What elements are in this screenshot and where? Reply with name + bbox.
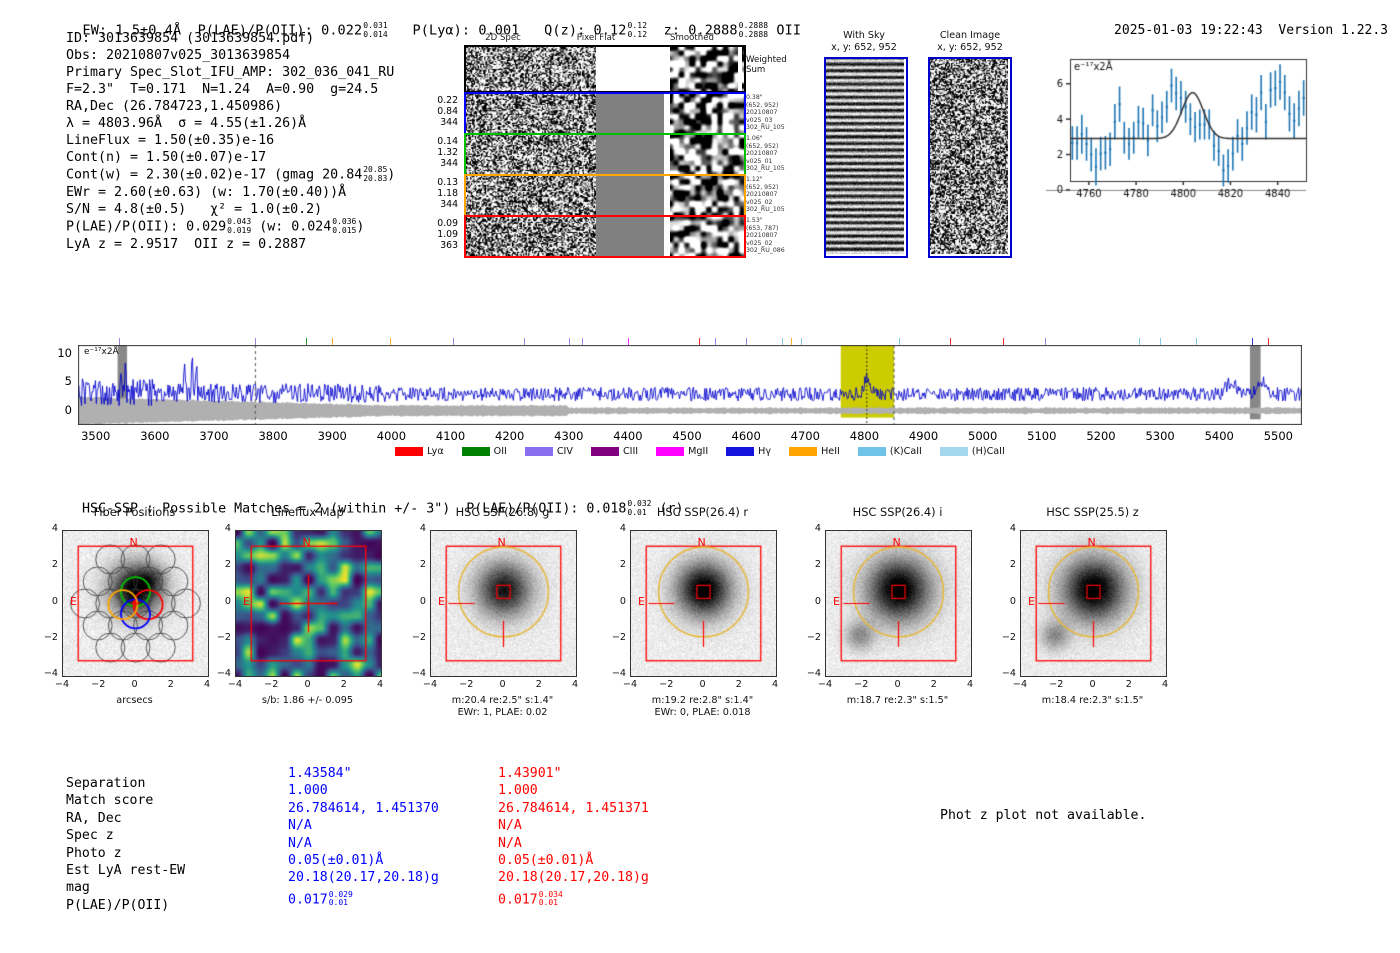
legend-label: (K)CaII: [890, 446, 922, 457]
cutout-x-tick: −2: [654, 679, 678, 690]
cutout-x-tick: 2: [727, 679, 751, 690]
cutout-image[interactable]: [825, 530, 972, 677]
spectrum-x-tick: 4000: [365, 429, 417, 443]
spectrum-y-tick: 0: [48, 403, 72, 417]
match-row-label: Spec z: [66, 827, 114, 844]
match-col2-value: 1.000: [498, 782, 538, 799]
match-col2-value: 0.0170.0340.01: [498, 891, 563, 909]
cutout-caption-line1: m:20.4 re:2.5" s:1.4": [452, 695, 553, 706]
spectrum-x-tick: 5000: [957, 429, 1009, 443]
cutout-x-tick: −4: [1008, 679, 1032, 690]
cutout-x-tick: 2: [1117, 679, 1141, 690]
cutout-caption-line2: EWr: 1, PLAE: 0.02: [458, 707, 548, 718]
cutout-caption: s/b: 1.86 +/- 0.095: [207, 695, 408, 707]
match-col1-value: 1.000: [288, 782, 328, 799]
spectrum-x-tick: 3600: [129, 429, 181, 443]
legend-label: CIII: [623, 446, 638, 457]
cutout-title: Fiber Positions: [52, 505, 217, 519]
cutout-y-tick: 2: [408, 559, 426, 570]
cutout-y-tick: −2: [998, 632, 1016, 643]
match-col1-value: 0.0170.0290.01: [288, 891, 353, 909]
cutout-x-tick: 4: [958, 679, 982, 690]
cutout-y-tick: 4: [803, 523, 821, 534]
match-row-label: Photo z: [66, 845, 122, 862]
cutout-panel-row: Fiber PositionsNE420−2−4−4−2024arcsecsLi…: [0, 505, 1400, 735]
match-col1-value: 0.05(±0.01)Å: [288, 852, 383, 869]
cutout-y-tick: 4: [40, 523, 58, 534]
spectrum-x-tick: 5100: [1016, 429, 1068, 443]
match-col2-value: 26.784614, 1.451371: [498, 800, 649, 817]
match-col1-value: N/A: [288, 817, 312, 834]
legend-item: CIII: [591, 446, 638, 458]
spectrum-x-tick: 4400: [602, 429, 654, 443]
match-col1-value: N/A: [288, 835, 312, 852]
match-col2-value: N/A: [498, 817, 522, 834]
spectrum-legend: LyαOIICIVCIIIMgIIHγHeII(K)CaII(H)CaII: [0, 446, 1400, 458]
compass-east: E: [638, 595, 645, 608]
cutout-x-tick: 0: [491, 679, 515, 690]
cutout-y-tick: −2: [213, 632, 231, 643]
spectrum-x-tick: 4500: [661, 429, 713, 443]
cutout-y-tick: 2: [40, 559, 58, 570]
spectrum-x-tick: 3500: [70, 429, 122, 443]
cutout-y-tick: 2: [608, 559, 626, 570]
cutout-y-tick: 4: [608, 523, 626, 534]
cutout-x-tick: −4: [50, 679, 74, 690]
compass-north: N: [303, 536, 311, 549]
spectrum-y-tick: 5: [48, 374, 72, 388]
cutout-x-tick: −2: [849, 679, 873, 690]
cutout-x-tick: −2: [454, 679, 478, 690]
spectrum-y-tick: 10: [48, 346, 72, 360]
cutout-y-tick: −4: [213, 668, 231, 679]
match-row-label: RA, Dec: [66, 810, 122, 827]
match-row-label: Est LyA rest-EW: [66, 862, 185, 879]
match-row-label: mag: [66, 879, 90, 896]
spectrum-x-tick: 4900: [898, 429, 950, 443]
legend-swatch: [789, 447, 817, 456]
cutout-x-tick: 0: [691, 679, 715, 690]
spectrum-x-tick: 5300: [1134, 429, 1186, 443]
compass-north: N: [130, 536, 138, 549]
cutout-caption-line2: EWr: 0, PLAE: 0.018: [654, 707, 750, 718]
cutout-image[interactable]: [630, 530, 777, 677]
cutout-x-tick: 4: [763, 679, 787, 690]
cutout-title: Lineflux Map: [225, 505, 390, 519]
compass-east: E: [833, 595, 840, 608]
spectrum-x-tick: 5200: [1075, 429, 1127, 443]
cutout-caption-line1: m:18.7 re:2.3" s:1.5": [847, 695, 948, 706]
cutout-y-tick: 2: [998, 559, 1016, 570]
cutout-y-tick: 4: [998, 523, 1016, 534]
cutout-title: HSC SSP(26.8) g: [420, 505, 585, 519]
legend-label: OII: [494, 446, 507, 457]
legend-item: (H)CaII: [940, 446, 1005, 458]
legend-swatch: [525, 447, 553, 456]
compass-north: N: [698, 536, 706, 549]
spectrum-x-tick: 4100: [425, 429, 477, 443]
legend-swatch: [940, 447, 968, 456]
cutout-y-tick: 0: [408, 596, 426, 607]
cutout-x-tick: −2: [86, 679, 110, 690]
cutout-caption: m:18.7 re:2.3" s:1.5": [797, 695, 998, 707]
cutout-x-tick: 0: [886, 679, 910, 690]
match-row-label: Separation: [66, 775, 145, 792]
cutout-y-tick: 0: [998, 596, 1016, 607]
spectrum-x-tick: 4600: [720, 429, 772, 443]
cutout-y-tick: −4: [40, 668, 58, 679]
cutout-y-tick: 2: [803, 559, 821, 570]
match-row-label: P(LAE)/P(OII): [66, 897, 169, 914]
cutout-y-tick: −2: [608, 632, 626, 643]
cutout-caption-line1: arcsecs: [116, 695, 152, 706]
legend-item: Hγ: [726, 446, 771, 458]
cutout-x-tick: 4: [563, 679, 587, 690]
cutout-x-tick: −4: [223, 679, 247, 690]
cutout-caption: arcsecs: [34, 695, 235, 707]
cutout-x-tick: 4: [1153, 679, 1177, 690]
spectrum-x-tick: 3900: [306, 429, 358, 443]
cutout-caption-line1: s/b: 1.86 +/- 0.095: [262, 695, 353, 706]
legend-label: MgII: [688, 446, 708, 457]
spectrum-x-tick: 5400: [1193, 429, 1245, 443]
cutout-title: HSC SSP(25.5) z: [1010, 505, 1175, 519]
cutout-image[interactable]: [1020, 530, 1167, 677]
cutout-x-tick: −4: [813, 679, 837, 690]
compass-north: N: [1088, 536, 1096, 549]
cutout-y-tick: 0: [40, 596, 58, 607]
cutout-image[interactable]: [62, 530, 209, 677]
cutout-title: HSC SSP(26.4) i: [815, 505, 980, 519]
spectrum-x-tick: 4200: [484, 429, 536, 443]
match-col2-value: N/A: [498, 835, 522, 852]
cutout-x-tick: 2: [922, 679, 946, 690]
cutout-caption: m:20.4 re:2.5" s:1.4"EWr: 1, PLAE: 0.02: [402, 695, 603, 719]
spectrum-x-tick: 4700: [779, 429, 831, 443]
compass-north: N: [893, 536, 901, 549]
cutout-y-tick: −2: [408, 632, 426, 643]
cutout-y-tick: −4: [803, 668, 821, 679]
cutout-x-tick: 0: [1081, 679, 1105, 690]
cutout-x-tick: −2: [1044, 679, 1068, 690]
spectrum-x-tick: 3800: [247, 429, 299, 443]
compass-east: E: [438, 595, 445, 608]
spectrum-x-ticks: 1050350036003700380039004000410042004300…: [0, 0, 1400, 480]
spectrum-x-tick: 4800: [838, 429, 890, 443]
legend-label: HeII: [821, 446, 840, 457]
legend-swatch: [656, 447, 684, 456]
cutout-y-tick: 2: [213, 559, 231, 570]
spectrum-x-tick: 4300: [543, 429, 595, 443]
legend-item: Lyα: [395, 446, 443, 458]
legend-swatch: [462, 447, 490, 456]
match-col2-value: 0.05(±0.01)Å: [498, 852, 593, 869]
cutout-y-tick: −2: [803, 632, 821, 643]
cutout-image[interactable]: [235, 530, 382, 677]
cutout-caption-line1: m:18.4 re:2.3" s:1.5": [1042, 695, 1143, 706]
cutout-y-tick: −2: [40, 632, 58, 643]
cutout-y-tick: −4: [608, 668, 626, 679]
compass-east: E: [1028, 595, 1035, 608]
legend-swatch: [858, 447, 886, 456]
compass-east: E: [70, 595, 77, 608]
cutout-y-tick: −4: [998, 668, 1016, 679]
cutout-x-tick: −4: [418, 679, 442, 690]
legend-label: Lyα: [427, 446, 443, 457]
legend-item: (K)CaII: [858, 446, 922, 458]
cutout-x-tick: −2: [259, 679, 283, 690]
compass-north: N: [498, 536, 506, 549]
legend-label: (H)CaII: [972, 446, 1005, 457]
cutout-title: HSC SSP(26.4) r: [620, 505, 785, 519]
match-col1-value: 1.43584": [288, 765, 352, 782]
cutout-y-tick: 0: [608, 596, 626, 607]
photz-note: Phot z plot not available.: [940, 808, 1146, 823]
legend-label: CIV: [557, 446, 573, 457]
spectrum-x-tick: 5500: [1252, 429, 1304, 443]
match-row-label: Match score: [66, 792, 153, 809]
cutout-x-tick: −4: [618, 679, 642, 690]
legend-item: HeII: [789, 446, 840, 458]
cutout-caption: m:19.2 re:2.8" s:1.4"EWr: 0, PLAE: 0.018: [602, 695, 803, 719]
legend-item: MgII: [656, 446, 708, 458]
cutout-x-tick: 2: [159, 679, 183, 690]
cutout-caption: m:18.4 re:2.3" s:1.5": [992, 695, 1193, 707]
cutout-y-tick: 4: [408, 523, 426, 534]
spectrum-x-tick: 3700: [188, 429, 240, 443]
match-col1-value: 20.18(20.17,20.18)g: [288, 869, 439, 886]
cutout-caption-line1: m:19.2 re:2.8" s:1.4": [652, 695, 753, 706]
match-col1-value: 26.784614, 1.451370: [288, 800, 439, 817]
compass-east: E: [243, 595, 250, 608]
cutout-y-tick: 0: [213, 596, 231, 607]
cutout-y-tick: 0: [803, 596, 821, 607]
cutout-x-tick: 2: [332, 679, 356, 690]
cutout-y-tick: −4: [408, 668, 426, 679]
legend-item: OII: [462, 446, 507, 458]
legend-swatch: [726, 447, 754, 456]
spectrum-unit-label: e⁻¹⁷x2Å: [84, 347, 119, 357]
cutout-x-tick: 0: [123, 679, 147, 690]
cutout-image[interactable]: [430, 530, 577, 677]
cutout-x-tick: 4: [195, 679, 219, 690]
cutout-x-tick: 0: [296, 679, 320, 690]
match-col2-value: 20.18(20.17,20.18)g: [498, 869, 649, 886]
legend-swatch: [591, 447, 619, 456]
cutout-x-tick: 2: [527, 679, 551, 690]
legend-swatch: [395, 447, 423, 456]
cutout-x-tick: 4: [368, 679, 392, 690]
legend-item: CIV: [525, 446, 573, 458]
match-col2-value: 1.43901": [498, 765, 562, 782]
legend-label: Hγ: [758, 446, 771, 457]
cutout-y-tick: 4: [213, 523, 231, 534]
